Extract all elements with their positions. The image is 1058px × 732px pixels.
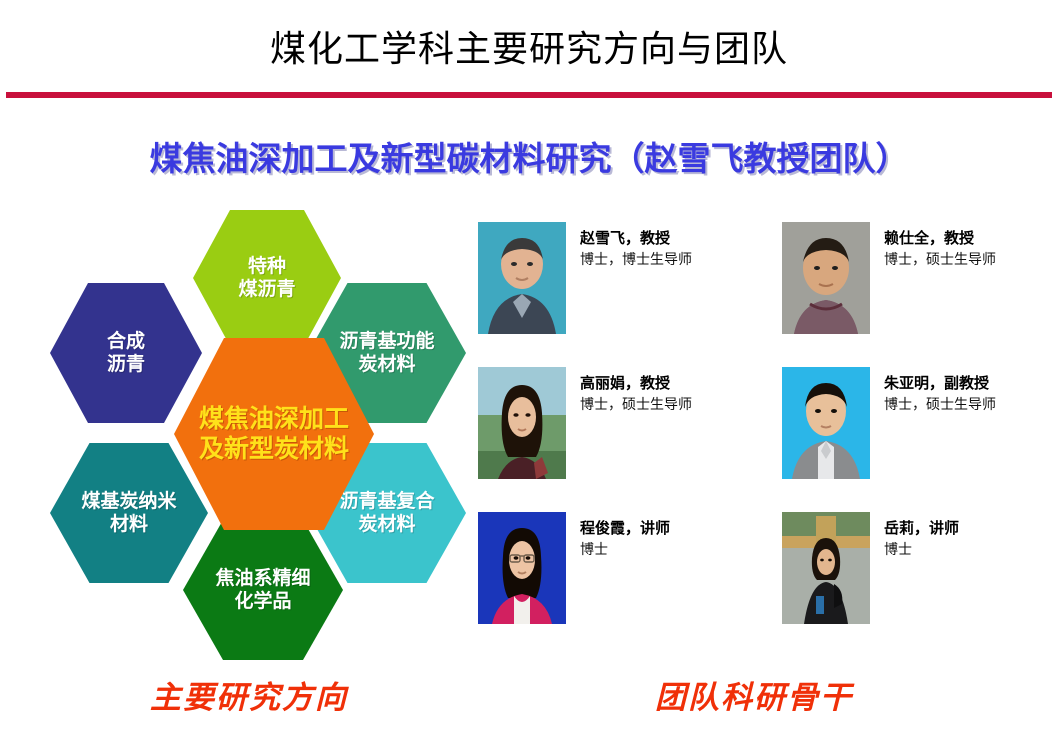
hex-node-upper-right-line1: 沥青基功能 — [333, 330, 440, 353]
team-member-card[interactable]: 高丽娟，教授 博士，硕士生导师 — [478, 367, 692, 479]
member-info: 高丽娟，教授 博士，硕士生导师 — [580, 367, 692, 416]
member-name: 赵雪飞，教授 — [580, 228, 692, 250]
member-info: 朱亚明，副教授 博士，硕士生导师 — [884, 367, 996, 416]
member-info: 赵雪飞，教授 博士，博士生导师 — [580, 222, 692, 271]
hex-node-bottom-line1: 焦油系精细 — [209, 567, 316, 590]
hex-node-top[interactable]: 特种 煤沥青 — [193, 210, 341, 346]
hex-node-upper-left-line1: 合成 — [101, 330, 151, 353]
member-degree: 博士，硕士生导师 — [884, 395, 996, 416]
avatar — [478, 512, 566, 624]
avatar — [478, 222, 566, 334]
caption-team-backbone: 团队科研骨干 — [655, 672, 853, 717]
hex-node-lower-left-line1: 煤基炭纳米 — [75, 490, 182, 513]
team-member-card[interactable]: 朱亚明，副教授 博士，硕士生导师 — [782, 367, 996, 479]
member-name: 岳莉，讲师 — [884, 518, 959, 540]
hex-node-top-line2: 煤沥青 — [232, 278, 301, 301]
avatar — [782, 512, 870, 624]
hex-node-lower-right-line1: 沥青基复合 — [333, 490, 440, 513]
hex-node-center-line2: 及新型炭材料 — [193, 434, 355, 464]
avatar — [478, 367, 566, 479]
hex-node-upper-left-line2: 沥青 — [101, 353, 151, 376]
page-title: 煤化工学科主要研究方向与团队 — [0, 30, 1058, 70]
member-degree: 博士，硕士生导师 — [884, 250, 996, 271]
member-info: 程俊霞，讲师 博士 — [580, 512, 670, 561]
member-degree: 博士，博士生导师 — [580, 250, 692, 271]
member-degree: 博士，硕士生导师 — [580, 395, 692, 416]
hex-node-bottom[interactable]: 焦油系精细 化学品 — [183, 520, 343, 660]
member-info: 赖仕全，教授 博士，硕士生导师 — [884, 222, 996, 271]
caption-research-directions: 主要研究方向 — [150, 672, 348, 717]
team-member-card[interactable]: 程俊霞，讲师 博士 — [478, 512, 670, 624]
member-name: 高丽娟，教授 — [580, 373, 692, 395]
member-name: 程俊霞，讲师 — [580, 518, 670, 540]
team-member-card[interactable]: 赵雪飞，教授 博士，博士生导师 — [478, 222, 692, 334]
hex-node-top-line1: 特种 — [232, 255, 301, 278]
team-member-card[interactable]: 岳莉，讲师 博士 — [782, 512, 959, 624]
team-members-grid: 赵雪飞，教授 博士，博士生导师 赖仕全，教授 — [470, 212, 1050, 652]
team-member-card[interactable]: 赖仕全，教授 博士，硕士生导师 — [782, 222, 996, 334]
research-directions-diagram: 特种 煤沥青 沥青基功能 炭材料 沥青基复合 炭材料 焦油系精细 化学品 — [40, 200, 470, 650]
hex-node-upper-right-line2: 炭材料 — [333, 353, 440, 376]
member-degree: 博士 — [580, 540, 670, 561]
hex-node-lower-left[interactable]: 煤基炭纳米 材料 — [50, 443, 208, 583]
member-degree: 博士 — [884, 540, 959, 561]
avatar — [782, 367, 870, 479]
hex-node-upper-left[interactable]: 合成 沥青 — [50, 283, 202, 423]
member-name: 赖仕全，教授 — [884, 228, 996, 250]
member-name: 朱亚明，副教授 — [884, 373, 996, 395]
hex-node-lower-right-line2: 炭材料 — [333, 513, 440, 536]
hex-node-center-line1: 煤焦油深加工 — [193, 404, 355, 434]
avatar — [782, 222, 870, 334]
hex-node-bottom-line2: 化学品 — [209, 590, 316, 613]
member-info: 岳莉，讲师 博士 — [884, 512, 959, 561]
slide-root: 煤化工学科主要研究方向与团队 煤焦油深加工及新型碳材料研究（赵雪飞教授团队） 特… — [0, 0, 1058, 732]
section-subtitle: 煤焦油深加工及新型碳材料研究（赵雪飞教授团队） — [0, 132, 1058, 180]
title-divider — [6, 92, 1052, 98]
hex-node-lower-left-line2: 材料 — [75, 513, 182, 536]
